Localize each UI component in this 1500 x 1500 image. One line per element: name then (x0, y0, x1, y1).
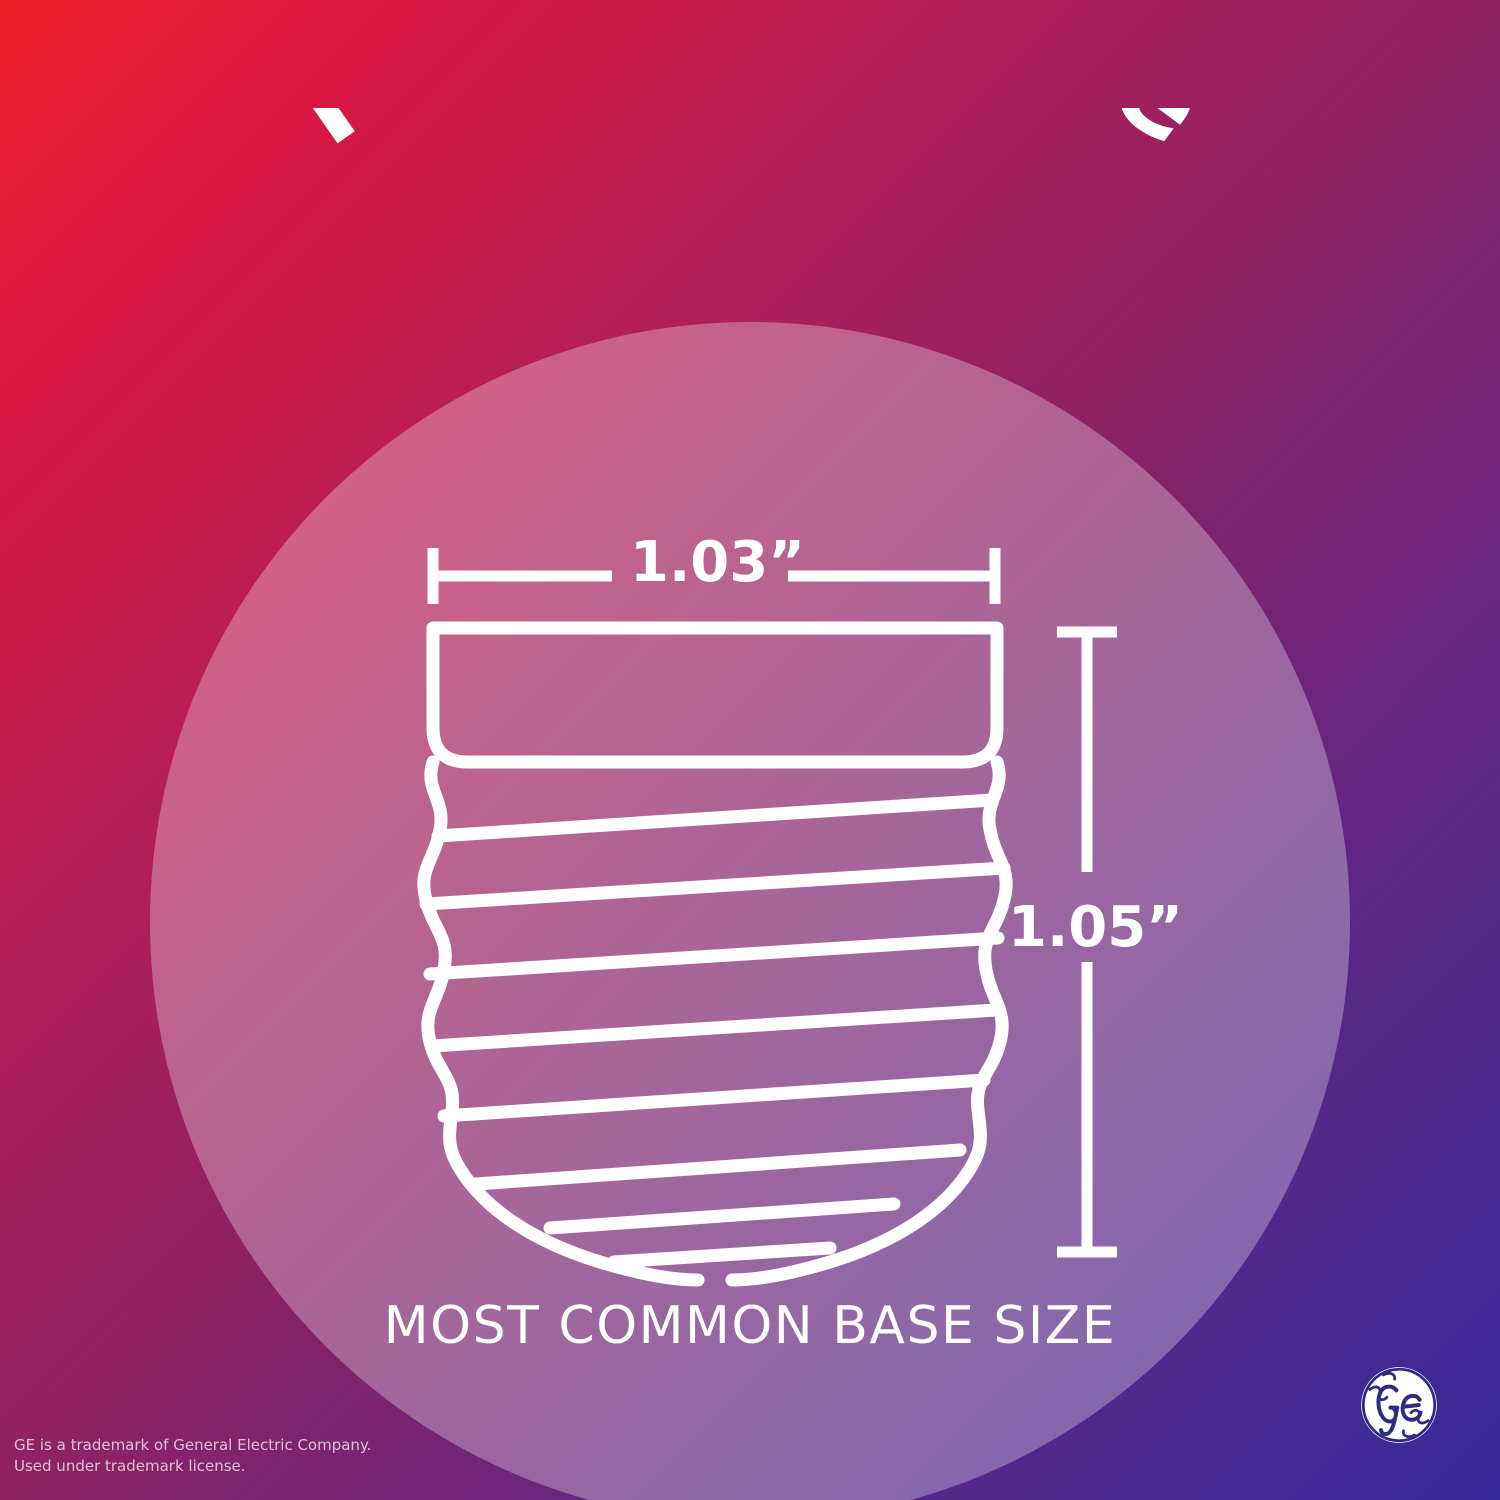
product-spec-graphic: Medium Base (0, 0, 1500, 1500)
page-title-text: Medium Base (266, 108, 1236, 173)
width-dimension-label: 1.03” (630, 530, 805, 595)
legal-line-1: GE is a trademark of General Electric Co… (14, 1435, 371, 1457)
ge-logo-icon (1356, 1362, 1442, 1448)
caption-text: MOST COMMON BASE SIZE (0, 1296, 1500, 1356)
page-title: Medium Base (0, 108, 1500, 408)
height-dimension-label: 1.05” (1008, 895, 1183, 960)
legal-line-2: Used under trademark license. (14, 1456, 371, 1478)
legal-notice: GE is a trademark of General Electric Co… (14, 1435, 371, 1479)
